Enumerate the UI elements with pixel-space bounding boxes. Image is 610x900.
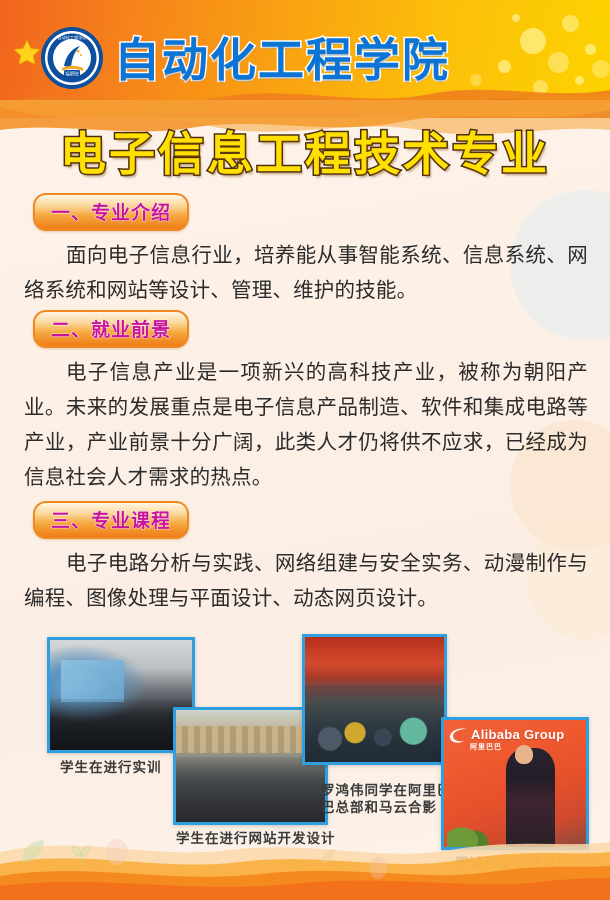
section-heading-text: 一、专业介绍 bbox=[51, 202, 171, 224]
svg-text:福职院: 福职院 bbox=[65, 71, 79, 78]
section-heading-text: 三、专业课程 bbox=[51, 510, 171, 532]
petal-icon bbox=[103, 838, 131, 866]
bokeh-circle bbox=[562, 15, 579, 32]
section-heading-pill-prospects: 二、就业前景 bbox=[33, 310, 189, 348]
bokeh-circle bbox=[520, 28, 546, 54]
bokeh-circle bbox=[592, 60, 610, 78]
leaf-icon bbox=[18, 836, 48, 866]
leaf-icon bbox=[68, 842, 94, 868]
section-body-courses: 电子电路分析与实践、网络组建与安全实务、动漫制作与编程、图像处理与平面设计、动态… bbox=[24, 546, 588, 616]
section-courses: 三、专业课程 电子电路分析与实践、网络组建与安全实务、动漫制作与编程、图像处理与… bbox=[0, 501, 610, 616]
bokeh-circle bbox=[498, 60, 511, 73]
page-title: 电子信息工程技术专业 bbox=[0, 118, 610, 184]
svg-text:自动化工程学院: 自动化工程学院 bbox=[57, 34, 87, 41]
bokeh-circle bbox=[548, 52, 569, 73]
college-name-title: 自动化工程学院 bbox=[114, 24, 450, 90]
photo-caption-students-training: 学生在进行实训 bbox=[60, 760, 162, 777]
section-heading-pill-courses: 三、专业课程 bbox=[33, 501, 189, 539]
section-body-intro: 面向电子信息行业，培养能从事智能系统、信息系统、网络系统和网站等设计、管理、维护… bbox=[24, 238, 588, 308]
section-heading-text: 二、就业前景 bbox=[51, 319, 171, 341]
bokeh-circle bbox=[585, 44, 596, 55]
leaf-icon bbox=[318, 846, 338, 866]
petal-icon bbox=[366, 856, 390, 880]
alibaba-backdrop-text: Alibaba Group bbox=[471, 727, 564, 742]
section-body-prospects: 电子信息产业是一项新兴的高科技产业，被称为朝阳产业。未来的发展重点是电子信息产品… bbox=[24, 355, 588, 495]
poster-root: 福职院 自动化工程学院 自动化工程学院 电子信息工程技术专业 一、专业介绍 面向… bbox=[0, 0, 610, 900]
alibaba-backdrop-text-cn: 阿里巴巴 bbox=[470, 742, 502, 752]
bokeh-circle bbox=[512, 14, 520, 22]
photo-caption-alibaba-hq-line1: 罗鸿伟同学在阿里巴 bbox=[321, 783, 452, 800]
college-logo: 福职院 自动化工程学院 bbox=[40, 26, 104, 90]
photo-alibaba-hq-group bbox=[302, 634, 447, 765]
section-intro: 一、专业介绍 面向电子信息行业，培养能从事智能系统、信息系统、网络系统和网站等设… bbox=[0, 193, 610, 308]
section-prospects: 二、就业前景 电子信息产业是一项新兴的高科技产业，被称为朝阳产业。未来的发展重点… bbox=[0, 310, 610, 495]
section-heading-pill-intro: 一、专业介绍 bbox=[33, 193, 189, 231]
